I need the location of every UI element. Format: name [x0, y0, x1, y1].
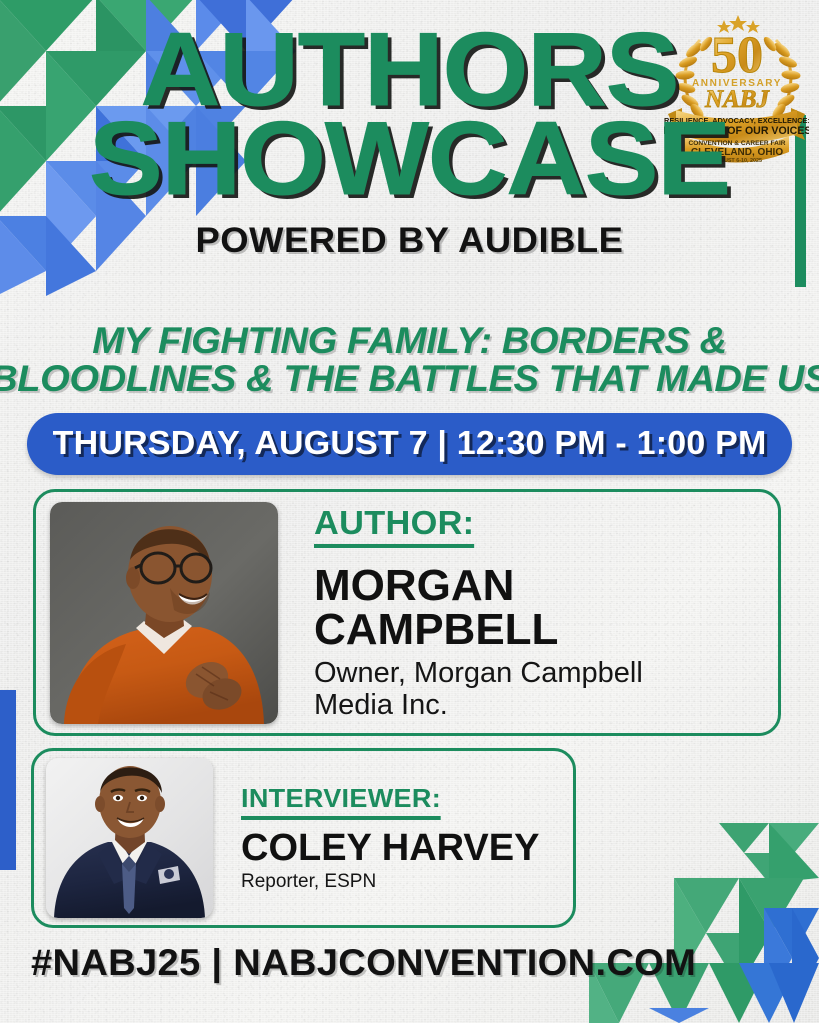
accent-bar-left — [0, 690, 16, 870]
footer-hashtag-url[interactable]: #NABJ25 | NABJCONVENTION.COM — [31, 942, 696, 984]
flyer-canvas: 50 ANNIVERSARY NABJ RESILIENCE, ADVOCACY… — [0, 0, 819, 1023]
page-title: AUTHORS SHOWCASE POWERED BY AUDIBLE — [0, 0, 819, 261]
powered-by-label: POWERED BY AUDIBLE — [0, 221, 819, 261]
author-title-line1: Owner, Morgan Campbell — [314, 658, 764, 689]
interviewer-info: INTERVIEWER: COLEY HARVEY Reporter, ESPN — [213, 783, 539, 893]
interviewer-card: INTERVIEWER: COLEY HARVEY Reporter, ESPN — [31, 748, 576, 928]
session-datetime-badge: THURSDAY, AUGUST 7 | 12:30 PM - 1:00 PM — [27, 413, 792, 475]
session-datetime-wrapper: THURSDAY, AUGUST 7 | 12:30 PM - 1:00 PM — [0, 413, 819, 475]
author-photo — [50, 502, 278, 724]
interviewer-photo — [46, 758, 213, 918]
title-line-showcase: SHOWCASE — [0, 115, 819, 204]
interviewer-name: COLEY HARVEY — [241, 829, 539, 867]
decorative-triangles-bottom-right — [589, 823, 819, 1023]
session-title: MY FIGHTING FAMILY: BORDERS & BLOODLINES… — [0, 322, 819, 398]
author-info: AUTHOR: MORGAN CAMPBELL Owner, Morgan Ca… — [278, 504, 764, 721]
session-title-line1: MY FIGHTING FAMILY: BORDERS & — [0, 322, 819, 360]
session-datetime-text: THURSDAY, AUGUST 7 | 12:30 PM - 1:00 PM — [53, 424, 767, 462]
author-name: MORGAN CAMPBELL — [314, 564, 764, 652]
interviewer-title: Reporter, ESPN — [241, 872, 539, 893]
interviewer-role-label: INTERVIEWER: — [241, 783, 441, 820]
author-role-label: AUTHOR: — [314, 504, 474, 548]
author-card: AUTHOR: MORGAN CAMPBELL Owner, Morgan Ca… — [33, 489, 781, 736]
header: AUTHORS SHOWCASE POWERED BY AUDIBLE — [0, 0, 819, 261]
session-title-line2: BLOODLINES & THE BATTLES THAT MADE US — [0, 360, 819, 398]
author-title-line2: Media Inc. — [314, 690, 764, 721]
